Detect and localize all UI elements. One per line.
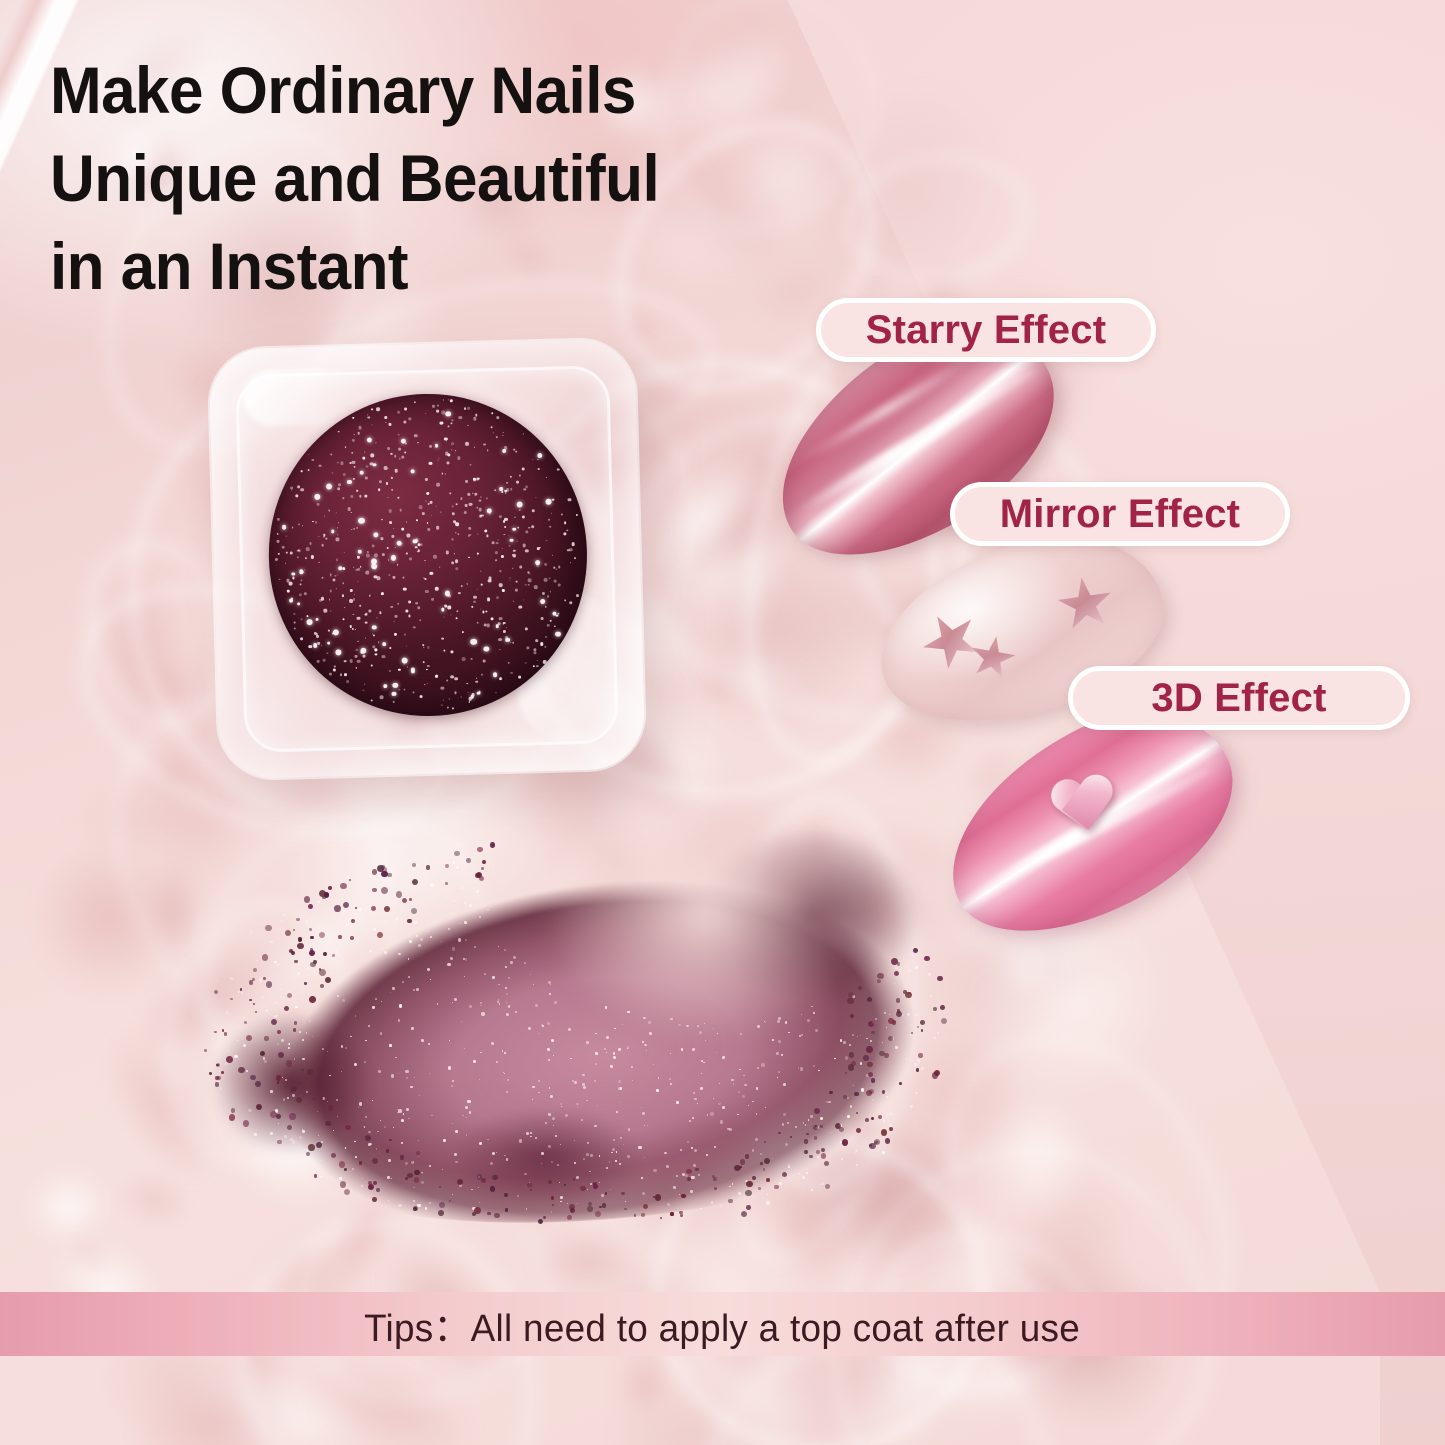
tips-text: Tips：All need to apply a top coat after … [364, 1297, 1080, 1352]
glitter-powder-jar [208, 338, 645, 779]
page-title: Make Ordinary Nails Unique and Beautiful… [50, 46, 830, 310]
badge-3d-label: 3D Effect [1151, 676, 1326, 721]
tips-banner: Tips：All need to apply a top coat after … [0, 1292, 1445, 1356]
headline-line-1: Make Ordinary Nails [50, 46, 830, 134]
badge-mirror-label: Mirror Effect [1000, 492, 1240, 537]
heart-icon [1047, 773, 1119, 840]
badge-starry-label: Starry Effect [866, 308, 1106, 353]
badge-3d-effect[interactable]: 3D Effect [1068, 666, 1410, 730]
product-banner: Make Ordinary Nails Unique and Beautiful… [0, 0, 1445, 1445]
badge-starry-effect[interactable]: Starry Effect [816, 298, 1156, 362]
headline-line-2: Unique and Beautiful [50, 134, 830, 222]
badge-mirror-effect[interactable]: Mirror Effect [950, 482, 1290, 546]
headline-line-3: in an Instant [50, 222, 830, 310]
